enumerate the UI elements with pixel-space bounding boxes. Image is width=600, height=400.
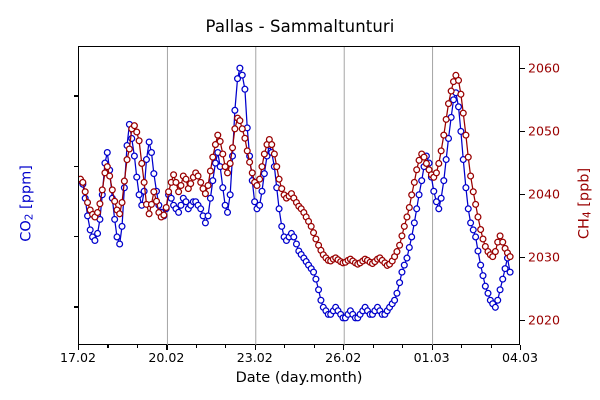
- data-point-marker: [166, 189, 172, 195]
- y-tick-mark-left: [74, 306, 79, 307]
- x-tick-label: 04.03: [480, 350, 560, 365]
- data-point-marker: [406, 205, 412, 211]
- data-point-marker: [117, 241, 123, 247]
- matplotlib-figure: Pallas - Sammaltunturi 434436438440 2020…: [0, 0, 600, 400]
- data-point-marker: [132, 153, 138, 159]
- data-point-marker: [104, 164, 110, 170]
- data-point-marker: [434, 170, 440, 176]
- data-point-marker: [230, 145, 236, 151]
- data-point-marker: [222, 202, 228, 208]
- x-tick-mark: [78, 345, 79, 350]
- x-tick-label: 20.02: [126, 350, 206, 365]
- data-point-marker: [500, 276, 506, 282]
- data-point-marker: [109, 187, 115, 193]
- data-point-marker: [261, 151, 267, 157]
- data-point-marker: [492, 249, 498, 255]
- data-point-marker: [132, 123, 138, 129]
- data-point-marker: [416, 192, 422, 198]
- data-point-marker: [249, 170, 255, 176]
- data-point-marker: [225, 170, 231, 176]
- data-point-marker: [470, 189, 476, 195]
- data-point-marker: [82, 189, 88, 195]
- data-point-marker: [269, 142, 275, 148]
- data-point-marker: [279, 186, 285, 192]
- data-point-marker: [441, 132, 447, 138]
- data-point-marker: [254, 183, 260, 189]
- data-point-marker: [95, 231, 101, 237]
- data-point-marker: [215, 132, 221, 138]
- data-point-marker: [203, 191, 209, 197]
- data-point-marker: [419, 178, 425, 184]
- data-point-marker: [404, 214, 410, 220]
- data-point-marker: [463, 132, 469, 138]
- data-point-marker: [470, 227, 476, 233]
- data-point-marker: [97, 201, 103, 207]
- y-tick-mark-right: [520, 194, 525, 195]
- data-point-marker: [95, 210, 101, 216]
- y-axis-left-title: CO2 [ppm]: [19, 118, 36, 288]
- x-tick-mark-minor: [284, 345, 285, 348]
- data-point-marker: [261, 171, 267, 177]
- x-tick-mark-minor: [225, 345, 226, 348]
- data-point-marker: [397, 242, 403, 248]
- data-point-marker: [424, 161, 430, 167]
- data-point-marker: [458, 91, 464, 97]
- data-point-marker: [276, 206, 282, 212]
- data-point-marker: [188, 181, 194, 187]
- data-point-marker: [99, 187, 105, 193]
- data-point-marker: [227, 192, 233, 198]
- y-tick-label-right: 2020: [528, 312, 588, 327]
- data-point-marker: [129, 136, 135, 142]
- data-point-marker: [198, 206, 204, 212]
- data-point-marker: [313, 236, 319, 242]
- data-point-marker: [176, 189, 182, 195]
- data-point-marker: [308, 224, 314, 230]
- data-point-marker: [205, 213, 211, 219]
- data-point-marker: [237, 118, 243, 124]
- y-tick-mark-right: [520, 257, 525, 258]
- data-point-marker: [409, 192, 415, 198]
- y-tick-mark-right: [520, 320, 525, 321]
- data-point-marker: [220, 185, 226, 191]
- x-tick-label: 17.02: [38, 350, 118, 365]
- data-point-marker: [242, 86, 248, 92]
- data-point-marker: [468, 173, 474, 179]
- data-point-marker: [161, 212, 167, 218]
- data-point-marker: [475, 248, 481, 254]
- x-tick-mark-minor: [491, 345, 492, 348]
- data-point-marker: [401, 262, 407, 268]
- data-point-marker: [497, 287, 503, 293]
- data-point-marker: [178, 183, 184, 189]
- data-point-marker: [112, 216, 118, 222]
- data-point-marker: [114, 234, 120, 240]
- y-axis-right-title: CH4 [ppb]: [577, 118, 594, 288]
- x-tick-mark: [432, 345, 433, 350]
- data-point-marker: [316, 287, 322, 293]
- data-point-marker: [485, 290, 491, 296]
- data-point-marker: [497, 233, 503, 239]
- y-tick-mark-left: [74, 236, 79, 237]
- data-point-marker: [92, 238, 98, 244]
- x-tick-mark-minor: [461, 345, 462, 348]
- data-point-marker: [465, 154, 471, 160]
- x-tick-mark-minor: [314, 345, 315, 348]
- data-point-marker: [119, 224, 125, 230]
- data-point-marker: [446, 101, 452, 107]
- data-point-marker: [112, 198, 118, 204]
- data-point-marker: [141, 188, 147, 194]
- data-point-marker: [210, 178, 216, 184]
- data-point-marker: [394, 290, 400, 296]
- data-point-marker: [404, 255, 410, 261]
- data-point-marker: [468, 220, 474, 226]
- data-point-marker: [480, 236, 486, 242]
- data-point-marker: [409, 234, 415, 240]
- x-tick-mark: [343, 345, 344, 350]
- data-point-marker: [225, 209, 231, 215]
- data-point-marker: [475, 214, 481, 220]
- x-tick-label: 23.02: [215, 350, 295, 365]
- data-point-marker: [208, 168, 214, 174]
- data-point-marker: [438, 148, 444, 154]
- data-point-marker: [257, 176, 263, 182]
- data-point-marker: [176, 209, 182, 215]
- data-point-marker: [257, 202, 263, 208]
- data-point-marker: [259, 164, 265, 170]
- data-point-marker: [456, 77, 462, 83]
- data-point-marker: [244, 148, 250, 154]
- data-point-marker: [141, 179, 147, 185]
- data-point-marker: [149, 150, 155, 156]
- data-point-marker: [399, 269, 405, 275]
- data-point-marker: [500, 239, 506, 245]
- data-point-marker: [171, 172, 177, 178]
- data-point-marker: [507, 254, 513, 260]
- data-point-marker: [399, 233, 405, 239]
- x-tick-mark: [520, 345, 521, 350]
- data-point-marker: [443, 116, 449, 122]
- data-point-marker: [436, 206, 442, 212]
- x-tick-mark-minor: [402, 345, 403, 348]
- y-tick-mark-left: [74, 95, 79, 96]
- data-point-marker: [151, 189, 157, 195]
- data-point-marker: [397, 280, 403, 286]
- data-point-marker: [119, 200, 125, 206]
- data-point-marker: [242, 135, 248, 141]
- data-point-marker: [318, 297, 324, 303]
- data-point-marker: [480, 273, 486, 279]
- data-point-marker: [232, 107, 238, 113]
- data-point-marker: [441, 178, 447, 184]
- data-point-marker: [294, 241, 300, 247]
- data-point-marker: [104, 150, 110, 156]
- data-point-marker: [227, 161, 233, 167]
- data-point-marker: [392, 297, 398, 303]
- x-tick-mark-minor: [137, 345, 138, 348]
- data-point-marker: [117, 211, 123, 217]
- data-point-marker: [217, 139, 223, 145]
- page-title: Pallas - Sammaltunturi: [0, 17, 600, 36]
- data-point-marker: [414, 206, 420, 212]
- data-point-marker: [421, 154, 427, 160]
- data-point-marker: [139, 161, 145, 167]
- x-tick-label: 01.03: [392, 350, 472, 365]
- data-point-marker: [482, 283, 488, 289]
- data-point-marker: [311, 269, 317, 275]
- data-point-marker: [239, 72, 245, 78]
- data-point-marker: [473, 234, 479, 240]
- data-point-marker: [232, 126, 238, 132]
- data-point-marker: [463, 185, 469, 191]
- data-point-marker: [279, 224, 285, 230]
- data-point-marker: [495, 297, 501, 303]
- data-point-marker: [311, 230, 317, 236]
- data-point-marker: [507, 269, 513, 275]
- data-point-marker: [80, 179, 86, 185]
- data-point-marker: [460, 110, 466, 116]
- data-point-marker: [85, 200, 91, 206]
- x-tick-label: 26.02: [303, 350, 383, 365]
- data-point-marker: [401, 224, 407, 230]
- data-point-marker: [443, 157, 449, 163]
- data-point-marker: [448, 88, 454, 94]
- data-point-marker: [276, 176, 282, 182]
- data-point-marker: [107, 173, 113, 179]
- data-point-marker: [239, 126, 245, 132]
- data-point-marker: [124, 157, 130, 163]
- data-point-marker: [154, 198, 160, 204]
- data-point-marker: [168, 195, 174, 201]
- data-point-marker: [183, 176, 189, 182]
- data-point-marker: [492, 304, 498, 310]
- data-point-marker: [163, 205, 169, 211]
- data-point-marker: [136, 138, 142, 144]
- data-point-marker: [134, 129, 140, 135]
- data-point-marker: [436, 161, 442, 167]
- data-point-marker: [478, 262, 484, 268]
- data-point-marker: [126, 146, 132, 152]
- data-point-marker: [121, 178, 127, 184]
- plot-axes-frame: [78, 46, 520, 345]
- y-tick-mark-left: [74, 166, 79, 167]
- data-point-marker: [146, 211, 152, 217]
- data-point-marker: [203, 220, 209, 226]
- data-point-marker: [438, 195, 444, 201]
- data-point-marker: [210, 154, 216, 160]
- data-point-marker: [87, 227, 93, 233]
- data-point-marker: [146, 139, 152, 145]
- data-point-marker: [237, 65, 243, 71]
- data-point-marker: [465, 206, 471, 212]
- data-point-marker: [406, 245, 412, 251]
- data-point-marker: [414, 167, 420, 173]
- data-point-marker: [151, 171, 157, 177]
- data-point-marker: [195, 173, 201, 179]
- x-tick-mark-minor: [107, 345, 108, 348]
- data-point-marker: [431, 188, 437, 194]
- x-tick-mark: [255, 345, 256, 350]
- data-point-marker: [271, 151, 277, 157]
- data-point-marker: [134, 174, 140, 180]
- data-point-marker: [411, 220, 417, 226]
- data-point-marker: [313, 276, 319, 282]
- data-point-marker: [205, 183, 211, 189]
- data-point-marker: [247, 159, 253, 165]
- data-point-marker: [394, 249, 400, 255]
- x-axis-title: Date (day.month): [78, 370, 520, 386]
- data-point-marker: [456, 104, 462, 110]
- x-tick-mark-minor: [196, 345, 197, 348]
- data-point-marker: [220, 151, 226, 157]
- data-point-marker: [198, 179, 204, 185]
- data-point-marker: [478, 227, 484, 233]
- data-point-marker: [208, 195, 214, 201]
- y-tick-label-right: 2060: [528, 61, 588, 76]
- x-tick-mark-minor: [373, 345, 374, 348]
- data-point-marker: [259, 188, 265, 194]
- x-tick-mark: [166, 345, 167, 350]
- data-point-marker: [473, 201, 479, 207]
- y-tick-mark-right: [520, 131, 525, 132]
- data-point-marker: [274, 164, 280, 170]
- chart-canvas: [79, 47, 521, 346]
- data-point-marker: [411, 179, 417, 185]
- data-point-marker: [291, 234, 297, 240]
- y-tick-mark-right: [520, 68, 525, 69]
